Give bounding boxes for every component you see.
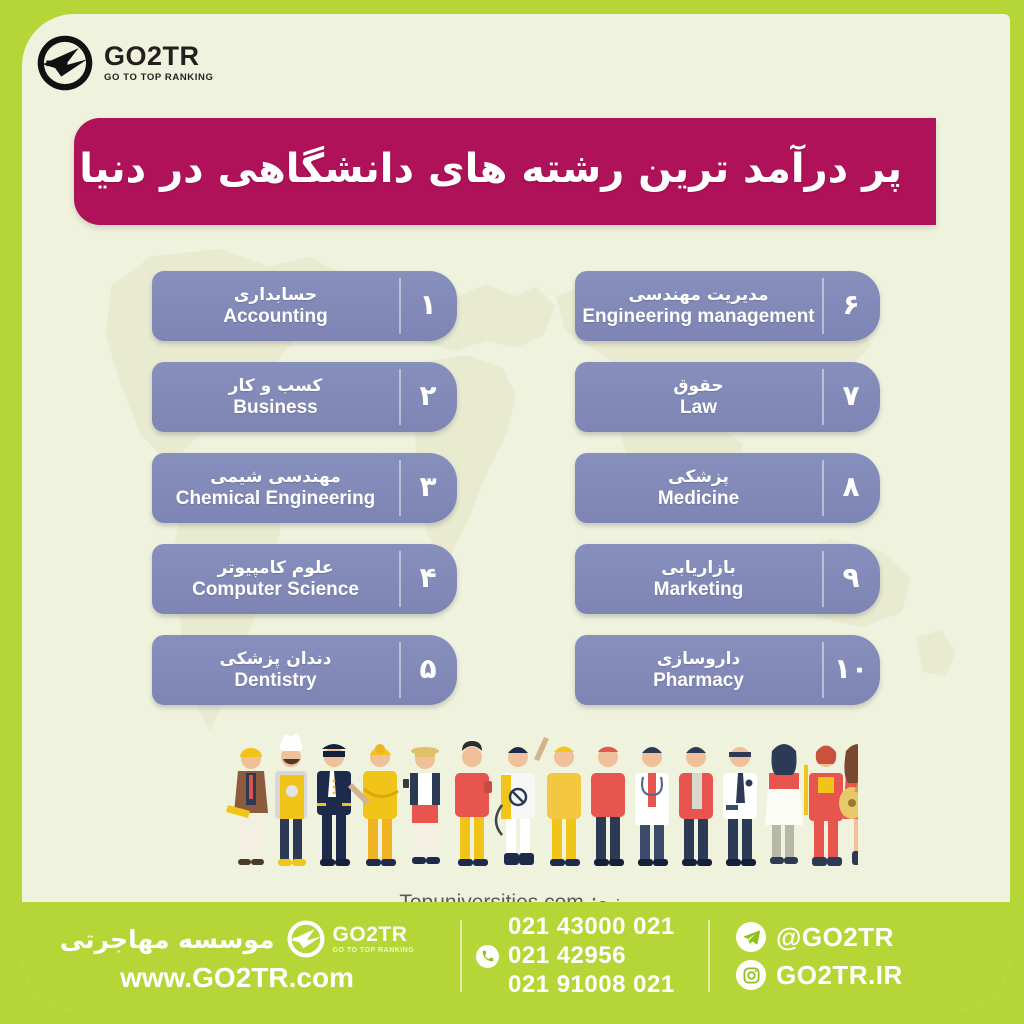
rank-number: ۶: [822, 271, 880, 341]
rank-labels: مهندسی شیمی Chemical Engineering: [152, 453, 399, 523]
logo-wordmark: GO2TR GO TO TOP RANKING: [104, 43, 213, 83]
rank-label-fa: پزشکی: [668, 467, 729, 487]
footer-instagram-row[interactable]: GO2TR.IR: [736, 960, 1010, 991]
footer-website[interactable]: www.GO2TR.com: [120, 962, 354, 994]
outer-green-frame: GO2TR GO TO TOP RANKING پر درآمد ترین رش…: [0, 0, 1024, 1024]
rank-label-fa: بازاریابی: [661, 558, 736, 578]
ranking-columns: ۱ حسابداری Accounting ۲ کسب و کار Busine…: [22, 271, 1010, 705]
row-of-professionals-illustration: [218, 719, 858, 884]
ranking-card-9[interactable]: ۹ بازاریابی Marketing: [575, 544, 880, 614]
rank-label-fa: حسابداری: [234, 285, 317, 305]
rank-labels: دندان پزشکی Dentistry: [152, 635, 399, 705]
brand-tagline: GO TO TOP RANKING: [104, 73, 213, 83]
footer-logo: GO2TR GO TO TOP RANKING: [285, 918, 415, 960]
rank-labels: حسابداری Accounting: [152, 271, 399, 341]
footer-telegram-row[interactable]: @GO2TR: [736, 922, 1010, 953]
rank-number: ۳: [399, 453, 457, 523]
rank-label-en: Medicine: [658, 488, 739, 510]
footer-institute-label: موسسه مهاجرتی: [60, 925, 275, 954]
ranking-card-7[interactable]: ۷ حقوق Law: [575, 362, 880, 432]
ranking-card-2[interactable]: ۲ کسب و کار Business: [152, 362, 457, 432]
footer-phone-block: 021 43000 021 021 42956 021 91008 021: [462, 913, 708, 999]
rank-labels: علوم کامپیوتر Computer Science: [152, 544, 399, 614]
rank-label-fa: مهندسی شیمی: [210, 467, 341, 487]
rank-label-en: Business: [233, 397, 317, 419]
rank-label-fa: علوم کامپیوتر: [218, 558, 334, 578]
content-panel: GO2TR GO TO TOP RANKING پر درآمد ترین رش…: [22, 14, 1010, 1010]
rank-label-en: Law: [680, 397, 717, 419]
footer-divider-2: [708, 920, 710, 992]
rank-labels: بازاریابی Marketing: [575, 544, 822, 614]
rank-label-fa: کسب و کار: [229, 376, 323, 396]
header-logo: GO2TR GO TO TOP RANKING: [34, 32, 213, 94]
ranking-column-left: ۶ مدیریت مهندسی Engineering management ۷…: [575, 271, 880, 705]
ranking-card-5[interactable]: ۵ دندان پزشکی Dentistry: [152, 635, 457, 705]
footer-brand-row: موسسه مهاجرتی GO2TR GO TO TOP RANKING: [60, 918, 414, 960]
ranking-card-10[interactable]: ۱۰ داروسازی Pharmacy: [575, 635, 880, 705]
telegram-handle[interactable]: @GO2TR: [776, 922, 894, 953]
rank-number: ۸: [822, 453, 880, 523]
go2tr-swoosh-logo-icon: [34, 32, 96, 94]
footer-brand-tagline: GO TO TOP RANKING: [333, 947, 415, 954]
rank-number: ۷: [822, 362, 880, 432]
instagram-icon: [736, 960, 766, 990]
rank-label-fa: داروسازی: [657, 649, 740, 669]
footer-phone-list: 021 43000 021 021 42956 021 91008 021: [508, 913, 675, 999]
rank-label-en: Marketing: [654, 579, 744, 601]
title-banner: پر درآمد ترین رشته های دانشگاهی در دنیا: [74, 118, 936, 225]
brand-name: GO2TR: [104, 43, 213, 70]
rank-label-en: Computer Science: [192, 579, 359, 601]
page-title: پر درآمد ترین رشته های دانشگاهی در دنیا: [59, 146, 936, 198]
footer-social-block: @GO2TR GO2TR.IR: [710, 922, 1010, 991]
rank-label-en: Engineering management: [582, 306, 814, 328]
ranking-card-3[interactable]: ۳ مهندسی شیمی Chemical Engineering: [152, 453, 457, 523]
rank-labels: مدیریت مهندسی Engineering management: [575, 271, 822, 341]
phone-number-3[interactable]: 021 91008 021: [508, 971, 675, 999]
rank-labels: داروسازی Pharmacy: [575, 635, 822, 705]
footer-logo-wordmark: GO2TR GO TO TOP RANKING: [333, 924, 415, 954]
rank-number: ۱۰: [822, 635, 880, 705]
ranking-card-4[interactable]: ۴ علوم کامپیوتر Computer Science: [152, 544, 457, 614]
ranking-card-8[interactable]: ۸ پزشکی Medicine: [575, 453, 880, 523]
phone-icon: [476, 945, 499, 968]
rank-labels: پزشکی Medicine: [575, 453, 822, 523]
phone-number-2[interactable]: 021 42956: [508, 942, 675, 970]
footer-divider-1: [460, 920, 462, 992]
rank-label-fa: حقوق: [673, 376, 723, 396]
ranking-card-1[interactable]: ۱ حسابداری Accounting: [152, 271, 457, 341]
instagram-handle[interactable]: GO2TR.IR: [776, 960, 903, 991]
telegram-icon: [736, 922, 766, 952]
ranking-column-right: ۱ حسابداری Accounting ۲ کسب و کار Busine…: [152, 271, 457, 705]
footer-brand-block: موسسه مهاجرتی GO2TR GO TO TOP RANKING: [22, 918, 460, 994]
rank-label-en: Chemical Engineering: [176, 488, 376, 510]
rank-number: ۴: [399, 544, 457, 614]
rank-label-en: Dentistry: [234, 670, 316, 692]
rank-label-fa: دندان پزشکی: [220, 649, 332, 669]
go2tr-swoosh-logo-icon: [285, 918, 327, 960]
rank-labels: حقوق Law: [575, 362, 822, 432]
rank-labels: کسب و کار Business: [152, 362, 399, 432]
rank-number: ۹: [822, 544, 880, 614]
rank-number: ۲: [399, 362, 457, 432]
rank-number: ۵: [399, 635, 457, 705]
rank-number: ۱: [399, 271, 457, 341]
rank-label-en: Accounting: [223, 306, 328, 328]
phone-number-1[interactable]: 021 43000 021: [508, 913, 675, 941]
ranking-card-6[interactable]: ۶ مدیریت مهندسی Engineering management: [575, 271, 880, 341]
rank-label-en: Pharmacy: [653, 670, 744, 692]
footer-bar: موسسه مهاجرتی GO2TR GO TO TOP RANKING: [22, 902, 1010, 1010]
rank-label-fa: مدیریت مهندسی: [628, 285, 768, 305]
footer-brand-name: GO2TR: [333, 924, 415, 945]
